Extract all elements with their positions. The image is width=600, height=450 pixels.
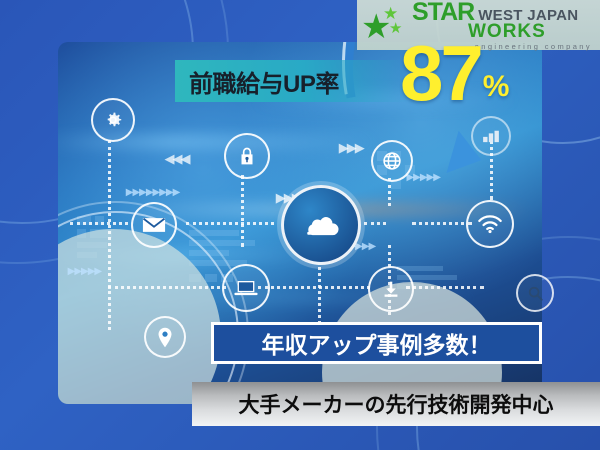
gear-icon-glyph — [102, 109, 124, 131]
promotional-banner: ◀◀◀ ▶▶▶ ▶▶▶ ▶▶▶▶▶▶▶▶ ▶▶▶▶▶ ▶▶▶▶ ▶▶▶▶▶ — [0, 0, 600, 450]
laptop-icon[interactable] — [222, 264, 270, 312]
headline-text: 前職給与UP率 — [175, 64, 339, 99]
globe-icon-glyph — [381, 150, 403, 172]
connector-line — [364, 222, 386, 225]
connector-line — [388, 178, 391, 206]
wifi-icon[interactable] — [466, 200, 514, 248]
connector-line — [108, 140, 111, 330]
download-icon-glyph — [380, 278, 402, 300]
lock-icon[interactable] — [224, 133, 270, 179]
bar-chart-icon-glyph — [482, 129, 500, 143]
connector-line — [406, 286, 484, 289]
lock-icon-glyph — [237, 145, 257, 167]
connector-line — [258, 286, 370, 289]
connector-line — [241, 175, 244, 247]
location-pin-icon[interactable] — [144, 316, 186, 358]
logo-star-word: STAR — [412, 0, 474, 25]
connector-line — [186, 222, 274, 225]
cloud-icon-glyph — [299, 210, 343, 240]
download-icon[interactable] — [368, 266, 414, 312]
envelope-icon-glyph — [142, 216, 166, 234]
percent-symbol: % — [483, 72, 510, 102]
headline-banner: 前職給与UP率 — [175, 60, 410, 102]
globe-icon[interactable] — [371, 140, 413, 182]
gear-icon[interactable] — [91, 98, 135, 142]
statistic-number: 87 — [400, 38, 481, 110]
connector-line — [318, 262, 321, 324]
envelope-icon[interactable] — [131, 202, 177, 248]
connector-line — [412, 222, 472, 225]
footer-bar: 大手メーカーの先行技術開発中心 — [192, 382, 600, 426]
bar-chart-icon[interactable] — [471, 116, 511, 156]
location-pin-icon-glyph — [157, 327, 173, 348]
statistic-display: 87 % — [400, 38, 509, 110]
callout-box: 年収アップ事例多数！ — [211, 322, 542, 364]
cloud-icon[interactable] — [281, 185, 361, 265]
search-icon[interactable] — [516, 274, 554, 312]
connector-line — [70, 222, 128, 225]
connector-line — [108, 286, 226, 289]
search-icon-glyph — [527, 285, 544, 302]
wifi-icon-glyph — [477, 214, 503, 234]
footer-bar-text: 大手メーカーの先行技術開発中心 — [239, 389, 554, 419]
laptop-icon-glyph — [233, 278, 259, 298]
callout-text: 年収アップ事例多数！ — [262, 326, 492, 360]
